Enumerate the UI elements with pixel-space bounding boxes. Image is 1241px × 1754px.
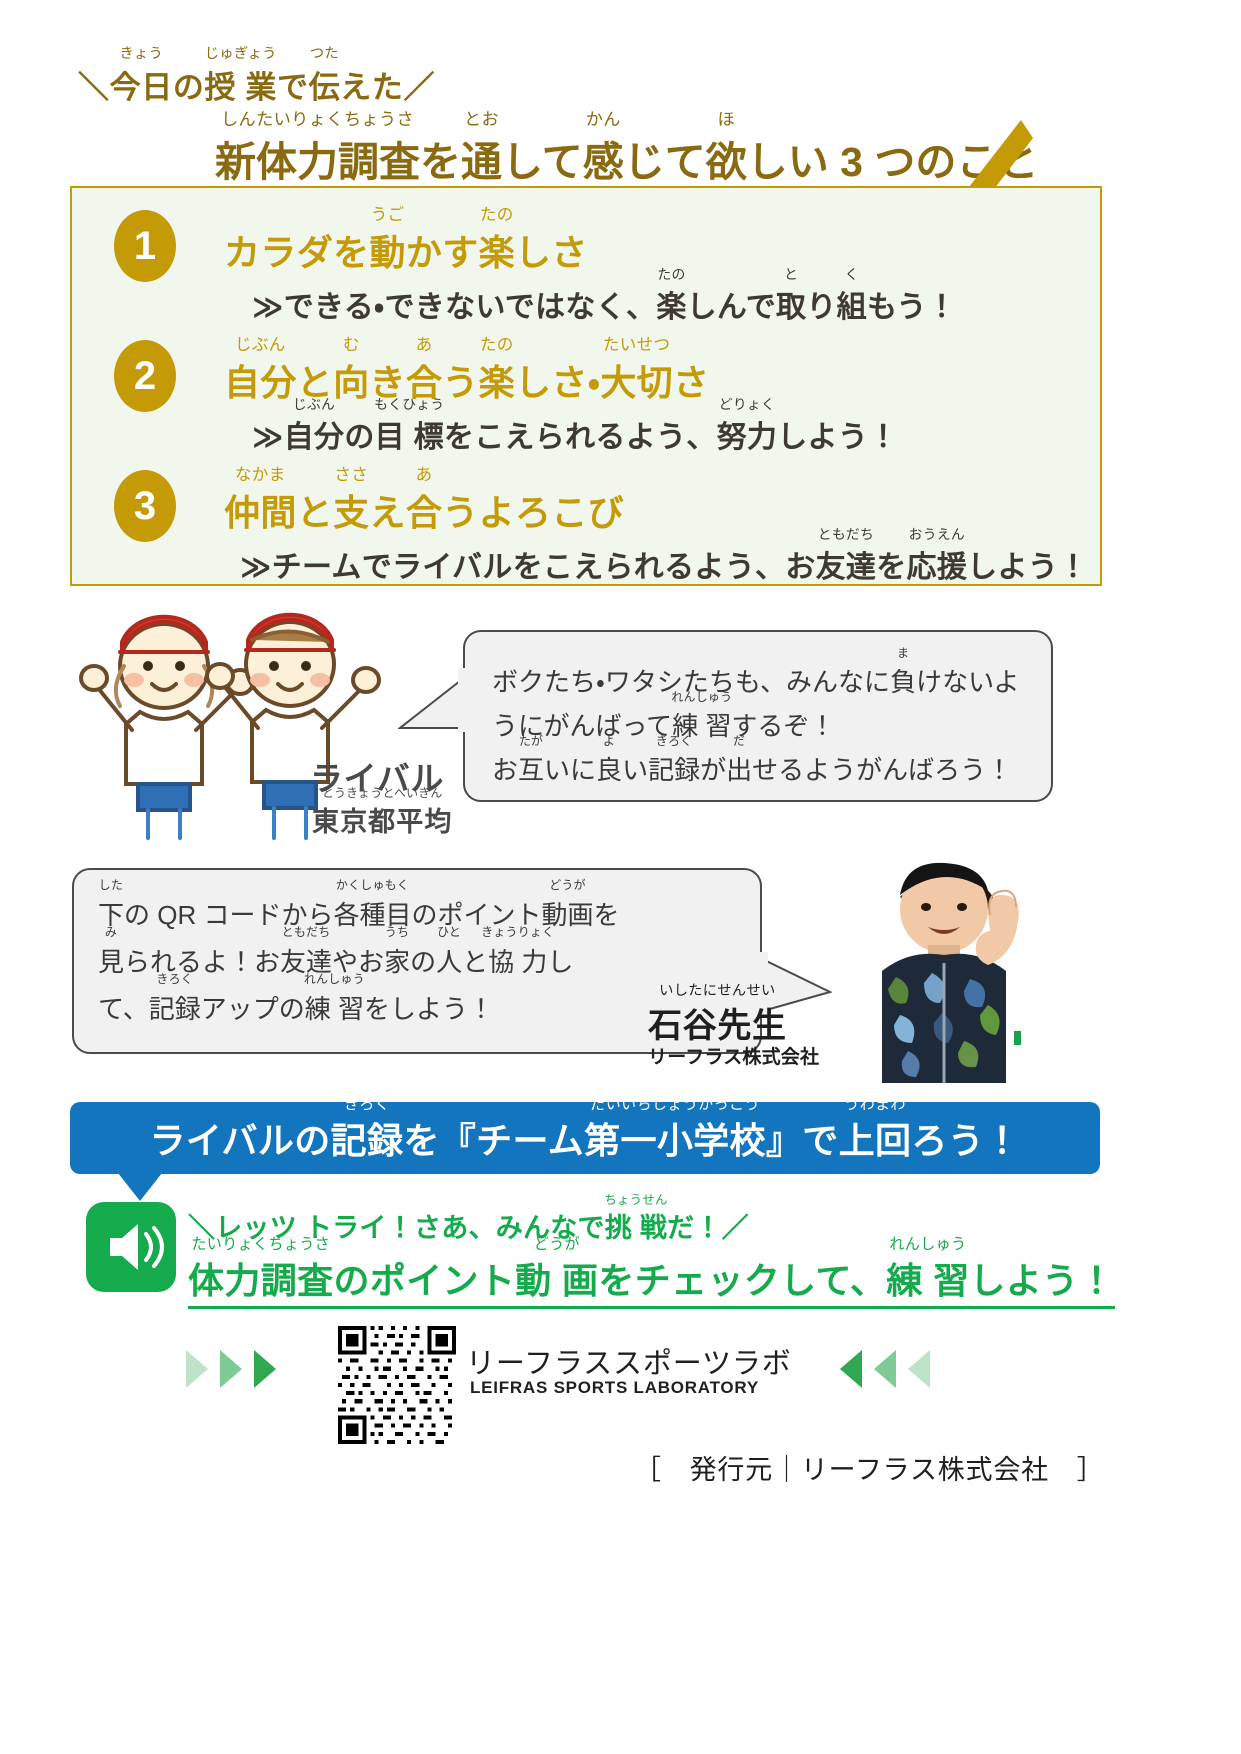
furigana: み <box>105 927 117 939</box>
furigana: れんしゅう <box>304 974 365 986</box>
ruby-group: じぶん自分 <box>224 354 297 406</box>
rival-sublabel: とうきょうとへいきん東京都平均 <box>312 800 452 839</box>
furigana: とお <box>464 111 499 128</box>
furigana: きょう <box>119 47 163 61</box>
chevron-right-icon <box>182 1346 298 1392</box>
furigana: ともだち <box>282 927 331 939</box>
furigana: たいせつ <box>603 337 671 354</box>
furigana: どうが <box>549 880 586 892</box>
furigana: うわまわ <box>844 1097 906 1112</box>
ruby-group: うわまわ上回 <box>839 1112 912 1164</box>
ruby-group: と取 <box>776 282 806 326</box>
furigana: ほ <box>718 111 736 128</box>
furigana: たが <box>519 736 543 748</box>
points-box: 1 カラダをうご動かすたの楽しさ ≫できる・できないではなく、たの楽しんでと取り… <box>70 186 1102 586</box>
publisher-line: ［ 発行元｜リーフラス株式会社 ］ <box>634 1448 1105 1487</box>
furigana: うご <box>371 207 405 224</box>
furigana: れんしゅう <box>889 1237 966 1252</box>
ruby-group: く組 <box>837 282 867 326</box>
ruby-group: あ合 <box>406 484 442 536</box>
furigana: きろく <box>344 1097 390 1112</box>
ruby-group: み見 <box>98 939 124 986</box>
ruby-group: きろく記録 <box>648 748 700 792</box>
furigana: した <box>99 880 123 892</box>
furigana: れんしゅう <box>671 692 732 704</box>
teacher-company: リーフラス株式会社 <box>648 1042 819 1069</box>
teacher-photo <box>838 845 1068 1083</box>
kids-bubble-tail <box>398 668 474 750</box>
furigana: きろく <box>156 974 193 986</box>
ruby-group: しんたいりょくちょうさ新体力調査 <box>215 128 420 188</box>
blue-banner-tail <box>118 1173 162 1201</box>
ruby-group: とうきょうとへいきん東京都平均 <box>312 800 452 839</box>
furigana: もくひょう <box>374 398 444 412</box>
furigana: なかま <box>235 467 286 484</box>
blue-banner-text: ライバルのきろく記録を『チームだいいちしょうがっこう第一小学校』でうわまわ上回ろ… <box>70 1102 1100 1174</box>
furigana: あ <box>416 337 433 354</box>
teacher-name: いしたにせんせい石谷先生 <box>648 998 787 1047</box>
furigana: かくしゅもく <box>336 880 409 892</box>
ruby-group: たが互 <box>518 748 544 792</box>
ruby-group: たの楽 <box>656 282 686 326</box>
furigana: じぶん <box>293 398 335 412</box>
point-badge: 1 <box>114 210 176 282</box>
furigana: たの <box>657 268 685 282</box>
furigana: いしたにせんせい <box>659 984 775 998</box>
ruby-group: たの楽 <box>479 224 515 276</box>
furigana: ひと <box>437 927 461 939</box>
blue-banner: ライバルのきろく記録を『チームだいいちしょうがっこう第一小学校』でうわまわ上回ろ… <box>70 1102 1100 1174</box>
furigana: ちょうせん <box>604 1194 667 1206</box>
furigana: く <box>845 268 859 282</box>
furigana: たの <box>480 207 514 224</box>
ruby-group: いしたにせんせい石谷先生 <box>648 998 787 1047</box>
furigana: おうえん <box>909 528 965 542</box>
ruby-group: ま負 <box>890 660 916 704</box>
ruby-group: もくひょう目 標 <box>375 412 444 456</box>
ruby-group: かん感 <box>583 128 624 188</box>
lab-name-english: LEIFRAS SPORTS LABORATORY <box>470 1378 759 1398</box>
ruby-group: たの楽 <box>479 354 515 406</box>
point-badge: 2 <box>114 340 176 412</box>
point-badge: 3 <box>114 470 176 542</box>
ruby-group: れんしゅう練 習 <box>886 1252 969 1304</box>
ruby-group: おうえん応援 <box>907 542 968 586</box>
furigana: ともだち <box>818 528 874 542</box>
furigana: じゅぎょう <box>205 47 277 61</box>
furigana: あ <box>416 467 433 484</box>
furigana: とうきょうとへいきん <box>322 788 443 800</box>
ruby-group: ほ欲 <box>706 128 747 188</box>
point-subtitle: ≫じぶん自分のもくひょう目 標をこえられるよう、どりょく努力しよう！ <box>252 412 898 456</box>
ruby-group: ささ支 <box>333 484 369 536</box>
furigana: きろく <box>656 736 693 748</box>
furigana: どうが <box>534 1237 580 1252</box>
ruby-group: だ出 <box>726 748 752 792</box>
point-title: なかま仲間とささ支えあ合うよろこび <box>224 484 624 536</box>
furigana: だいいちしょうがっこう <box>590 1097 760 1112</box>
ruby-group: きろく記録 <box>331 1112 404 1164</box>
ruby-group: じぶん自分 <box>284 412 345 456</box>
furigana: ささ <box>334 467 368 484</box>
ruby-group: どりょく努力 <box>717 412 778 456</box>
ruby-group: じゅぎょう授 業 <box>205 62 277 107</box>
ruby-group: うち家 <box>384 939 410 986</box>
furigana: む <box>343 337 360 354</box>
ruby-group: ちょうせん挑 戦 <box>605 1206 667 1245</box>
ruby-group: とお通 <box>461 128 502 188</box>
furigana: よ <box>603 736 615 748</box>
ruby-group: れんしゅう練 習 <box>305 986 364 1033</box>
ruby-group: つた伝 <box>309 62 341 107</box>
furigana: しんたいりょくちょうさ <box>221 111 414 128</box>
kicker-line: ＼きょう今日のじゅぎょう授 業でつた伝えた／ <box>78 62 435 107</box>
ruby-group: だいいちしょうがっこう第一小学校 <box>584 1112 766 1164</box>
page-title: しんたいりょくちょうさ新体力調査をとお通してかん感じてほ欲しい 3 つのこと <box>215 128 1038 188</box>
ruby-group: きょう今日 <box>110 62 173 107</box>
point-subtitle: ≫チームでライバルをこえられるよう、おともだち友達をおうえん応援しよう！ <box>240 542 1088 586</box>
ruby-group: ひと人 <box>436 939 462 986</box>
speaker-icon <box>86 1202 176 1292</box>
ruby-group: む向 <box>333 354 369 406</box>
ruby-group: きろく記録 <box>149 986 201 1033</box>
lab-name-japanese: リーフラススポーツラボ <box>466 1340 792 1382</box>
ruby-group: きょうりょく協 力 <box>488 939 547 986</box>
ruby-group: なかま仲間 <box>224 484 297 536</box>
ruby-group: どうが動 画 <box>515 1252 598 1304</box>
ruby-group: よ良 <box>596 748 622 792</box>
furigana: うち <box>385 927 409 939</box>
furigana: きょうりょく <box>481 927 554 939</box>
furigana: かん <box>586 111 621 128</box>
furigana: ま <box>897 648 909 660</box>
ruby-group: ともだち友達 <box>816 542 877 586</box>
furigana: と <box>784 268 798 282</box>
furigana: じぶん <box>235 337 286 354</box>
furigana: つた <box>310 47 339 61</box>
furigana: どりょく <box>719 398 775 412</box>
ruby-group: たいりょくちょうさ体力調査 <box>188 1252 333 1304</box>
furigana: だ <box>733 736 745 748</box>
furigana: たいりょくちょうさ <box>191 1237 330 1252</box>
kids-bubble-text: ボクたち・ワタシたちも、みんなにま負けないようにがんばってれんしゅう練 習するぞ… <box>492 660 1037 792</box>
qr-code-icon[interactable] <box>338 1326 456 1444</box>
video-cta-link[interactable]: たいりょくちょうさ体力調査のポイントどうが動 画をチェックして、れんしゅう練 習… <box>188 1252 1115 1309</box>
furigana: たの <box>480 337 514 354</box>
ruby-group: うご動 <box>369 224 405 276</box>
point-subtitle: ≫できる・できないではなく、たの楽しんでと取りく組もう！ <box>252 282 957 326</box>
chevron-left-icon <box>818 1346 934 1392</box>
point-title: カラダをうご動かすたの楽しさ <box>224 224 588 276</box>
ruby-group: たいせつ大切 <box>600 354 673 406</box>
